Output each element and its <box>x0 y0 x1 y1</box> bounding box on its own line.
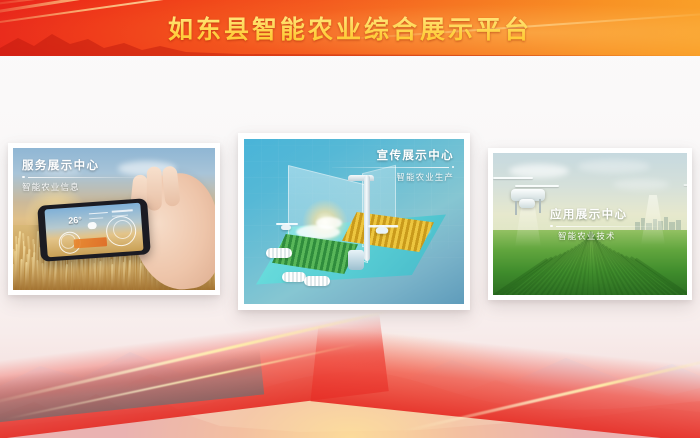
card-application-center[interactable]: 应用展示中心 智能农业技术 <box>488 148 692 300</box>
phone-temperature-readout: 26° <box>68 215 82 226</box>
cloud-shape <box>613 179 669 190</box>
smartphone-device: 26° <box>37 198 151 262</box>
finger <box>147 167 162 211</box>
page-root: 如东县智能农业综合展示平台 26° <box>0 0 700 438</box>
page-title: 如东县智能农业综合展示平台 <box>0 0 700 56</box>
card-application-subtitle: 智能农业技术 <box>558 230 660 242</box>
iso-water-tank <box>348 250 364 270</box>
caption-dot <box>22 176 25 179</box>
hud-info-chip <box>73 237 106 248</box>
header-banner: 如东县智能农业综合展示平台 <box>0 0 700 56</box>
caption-rule <box>556 226 661 227</box>
iso-light-pole <box>364 175 370 261</box>
finger <box>162 166 181 207</box>
iso-roll <box>282 272 306 282</box>
caption-rule <box>332 167 449 168</box>
weather-cloud-icon <box>88 222 97 230</box>
card-promotion-title: 宣传展示中心 <box>332 147 454 163</box>
card-service-subtitle: 智能农业信息 <box>22 181 142 193</box>
caption-rule <box>28 177 143 178</box>
card-service-center[interactable]: 26° 服务展示中心 智能农业信息 <box>8 143 220 295</box>
caption-dot <box>550 225 553 228</box>
phone-screen: 26° <box>44 203 143 258</box>
card-promotion-subtitle: 智能农业生产 <box>332 171 454 183</box>
card-promotion-caption: 宣传展示中心 智能农业生产 <box>332 147 454 183</box>
card-service-title: 服务展示中心 <box>22 157 142 173</box>
card-application-title: 应用展示中心 <box>550 206 660 222</box>
iso-roll <box>266 248 292 258</box>
card-promotion-center[interactable]: 宣传展示中心 智能农业生产 <box>238 133 470 310</box>
iso-roll <box>304 276 330 286</box>
card-service-caption: 服务展示中心 智能农业信息 <box>22 157 142 193</box>
iso-cloud <box>316 217 342 229</box>
caption-dot <box>452 166 455 169</box>
card-application-caption: 应用展示中心 智能农业技术 <box>550 206 660 242</box>
